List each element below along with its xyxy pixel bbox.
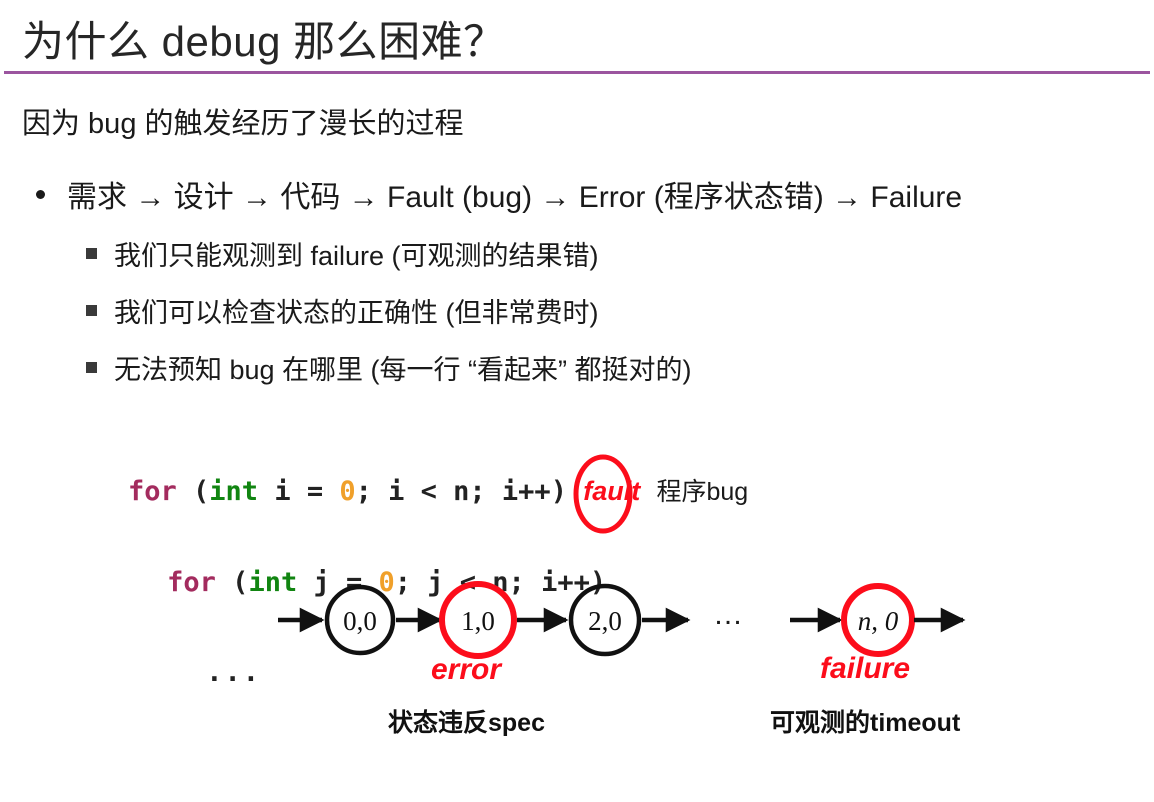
bullet-level2-observe-failure: 我们只能观测到 failure (可观测的结果错) (86, 234, 599, 273)
diagram-node-label-2: 2,0 (588, 606, 622, 636)
diagram-tag-error: error (431, 653, 501, 687)
bullet-level2-unpredictable-bug: 无法预知 bug 在哪里 (每一行 “看起来” 都挺对的) (86, 348, 692, 387)
title-divider (4, 71, 1150, 74)
code-keyword-for: for (128, 476, 177, 507)
code-line-1: for (int i = 0; i < n; i++) fault 程序bug (128, 469, 748, 515)
bullet-level1-label: 需求 → 设计 → 代码 → Fault (bug) → Error (程序状态… (67, 172, 962, 216)
code-number-zero: 0 (339, 476, 355, 507)
bullet-square-icon (86, 305, 97, 316)
diagram-caption-error: 状态违反spec (388, 703, 545, 739)
bullet-square-icon (86, 248, 97, 259)
bullet-level2-label: 我们可以检查状态的正确性 (但非常费时) (114, 291, 598, 330)
lead-text: 因为 bug 的触发经历了漫长的过程 (22, 100, 464, 142)
diagram-node-label-0: 0,0 (343, 606, 377, 636)
bullet-dot-icon (36, 190, 45, 199)
page-title: 为什么 debug 那么困难？ (22, 8, 506, 69)
slide-root: { "slide": { "title": "为什么 debug 那么困难？",… (0, 0, 1154, 802)
bullet-level2-label: 我们只能观测到 failure (可观测的结果错) (114, 234, 599, 273)
diagram-caption-failure: 可观测的timeout (770, 703, 960, 739)
diagram-node-label-1: 1,0 (461, 606, 495, 636)
annotation-fault-chinese: 程序bug (656, 478, 748, 506)
bullet-square-icon (86, 362, 97, 373)
bug-highlight-ellipse-icon (566, 452, 640, 536)
bullet-level2-label: 无法预知 bug 在哪里 (每一行 “看起来” 都挺对的) (114, 348, 692, 387)
bullet-level1-pipeline: 需求 → 设计 → 代码 → Fault (bug) → Error (程序状态… (36, 172, 962, 216)
diagram-node-label-n: n, 0 (858, 606, 899, 636)
diagram-tag-failure: failure (820, 652, 910, 686)
code-condition: ; i < n; i++) (356, 476, 567, 507)
diagram-ellipsis: … (713, 598, 746, 632)
bullet-level2-check-state: 我们可以检查状态的正确性 (但非常费时) (86, 291, 598, 330)
code-punct-open: ( (177, 476, 210, 507)
state-machine-diagram: 0,0 1,0 2,0 n, 0 (0, 560, 1154, 760)
code-type-int: int (209, 476, 258, 507)
code-var-i: i = (258, 476, 339, 507)
